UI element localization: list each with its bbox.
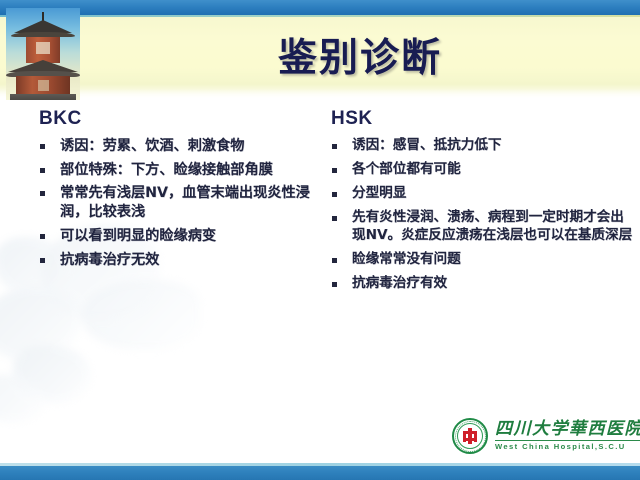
list-item: 先有炎性浸润、溃疡、病程到一定时期才会出现NV。炎症反应溃疡在浅层也可以在基质深… [328,209,634,245]
top-blue-bar [0,0,640,15]
watermark-blob [0,375,45,423]
page-title: 鉴别诊断 [90,27,630,83]
list-item: 可以看到明显的睑缘病变 [36,227,314,246]
bottom-blue-bar [0,466,640,480]
emblem-cross-right-bar [474,431,477,442]
list-item: 常常先有浅层NV，血管末端出现炎性浸润，比较表浅 [36,184,314,221]
column-hsk: HSK 诱因：感冒、抵抗力低下 各个部位都有可能 分型明显 先有炎性浸润、溃疡、… [320,108,640,299]
pagoda-icon [6,8,80,100]
list-item: 诱因：感冒、抵抗力低下 [328,137,634,155]
list-item: 抗病毒治疗有效 [328,275,634,293]
hospital-name-en: West China Hospital,S.C.U [495,443,640,451]
list-item: 分型明显 [328,185,634,203]
list-item: 各个部位都有可能 [328,161,634,179]
hospital-logo-text: 四川大学華西医院 West China Hospital,S.C.U [495,421,640,451]
pagoda-base [10,94,76,100]
watermark-blob [13,345,91,403]
list-item: 诱因：劳累、饮酒、刺激食物 [36,137,314,156]
hospital-name-cn: 四川大学華西医院 [495,421,640,438]
column-heading-bkc: BKC [39,108,314,130]
emblem-cross-left-bar [463,431,466,442]
column-heading-hsk: HSK [331,108,634,130]
hospital-emblem-icon [452,418,488,454]
list-item: 睑缘常常没有问题 [328,251,634,269]
bullet-list-bkc: 诱因：劳累、饮酒、刺激食物 部位特殊：下方、睑缘接触部角膜 常常先有浅层NV，血… [36,137,314,269]
content-columns: BKC 诱因：劳累、饮酒、刺激食物 部位特殊：下方、睑缘接触部角膜 常常先有浅层… [0,108,640,299]
hospital-logo: 四川大学華西医院 West China Hospital,S.C.U [452,418,640,454]
pagoda-window-upper [36,42,50,54]
pagoda-window-lower [38,80,49,91]
slide: 鉴别诊断 BKC 诱因：劳累、饮酒、刺激食物 部位特殊：下方、睑缘接触部角膜 常… [0,0,640,480]
bullet-list-hsk: 诱因：感冒、抵抗力低下 各个部位都有可能 分型明显 先有炎性浸润、溃疡、病程到一… [328,137,634,293]
list-item: 部位特殊：下方、睑缘接触部角膜 [36,161,314,180]
logo-divider [495,440,640,441]
list-item: 抗病毒治疗无效 [36,251,314,270]
column-bkc: BKC 诱因：劳累、饮酒、刺激食物 部位特殊：下方、睑缘接触部角膜 常常先有浅层… [0,108,320,299]
